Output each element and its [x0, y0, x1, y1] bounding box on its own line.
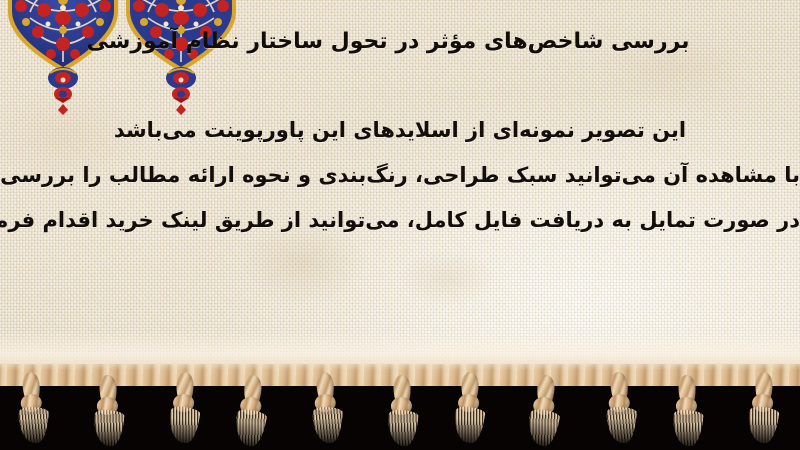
slide-body: این تصویر نمونه‌ای از اسلایدهای این پاور… [0, 108, 800, 243]
tassel-brush [166, 405, 200, 444]
body-line-3: در صورت تمایل به دریافت فایل کامل، می‌تو… [0, 198, 800, 243]
tassel-brush [18, 406, 49, 443]
tassel-brush [92, 409, 125, 447]
fringe-tassel [167, 372, 203, 443]
slide-title: بررسی شاخص‌های مؤثر در تحول ساختار نظام … [8, 28, 768, 56]
tassel-brush [606, 406, 637, 443]
medallion-icon [4, 0, 122, 116]
fringe-tassel [670, 375, 706, 446]
tassel-brush [312, 406, 343, 443]
presentation-slide: بررسی شاخص‌های مؤثر در تحول ساختار نظام … [0, 0, 800, 450]
medallion-icon [122, 0, 240, 116]
fringe-tassel [91, 375, 127, 446]
persian-medallion-ornament-right [122, 0, 240, 120]
fringe-tassel [746, 372, 782, 443]
fringe-tassel [526, 374, 565, 446]
tassel-brush [451, 405, 485, 444]
tassel-brush [232, 408, 268, 449]
persian-medallion-ornament-left [4, 0, 122, 120]
tassel-brush [745, 405, 779, 444]
fringe-tassel [14, 371, 53, 443]
tassel-brush [525, 408, 561, 449]
body-line-2: با مشاهده آن می‌توانید سبک طراحی، رنگ‌بن… [0, 153, 800, 198]
carpet-fringe [0, 364, 800, 450]
fringe-tassel [452, 372, 488, 443]
tassel-brush [386, 409, 419, 447]
body-line-1: این تصویر نمونه‌ای از اسلایدهای این پاور… [0, 108, 800, 153]
slide-title-text: بررسی شاخص‌های مؤثر در تحول ساختار نظام … [86, 28, 689, 56]
tassel-brush [671, 409, 704, 447]
fringe-tassel [308, 371, 347, 443]
fringe-tassel [385, 375, 421, 446]
fringe-tassel [602, 371, 641, 443]
fringe-tassel [232, 374, 271, 446]
